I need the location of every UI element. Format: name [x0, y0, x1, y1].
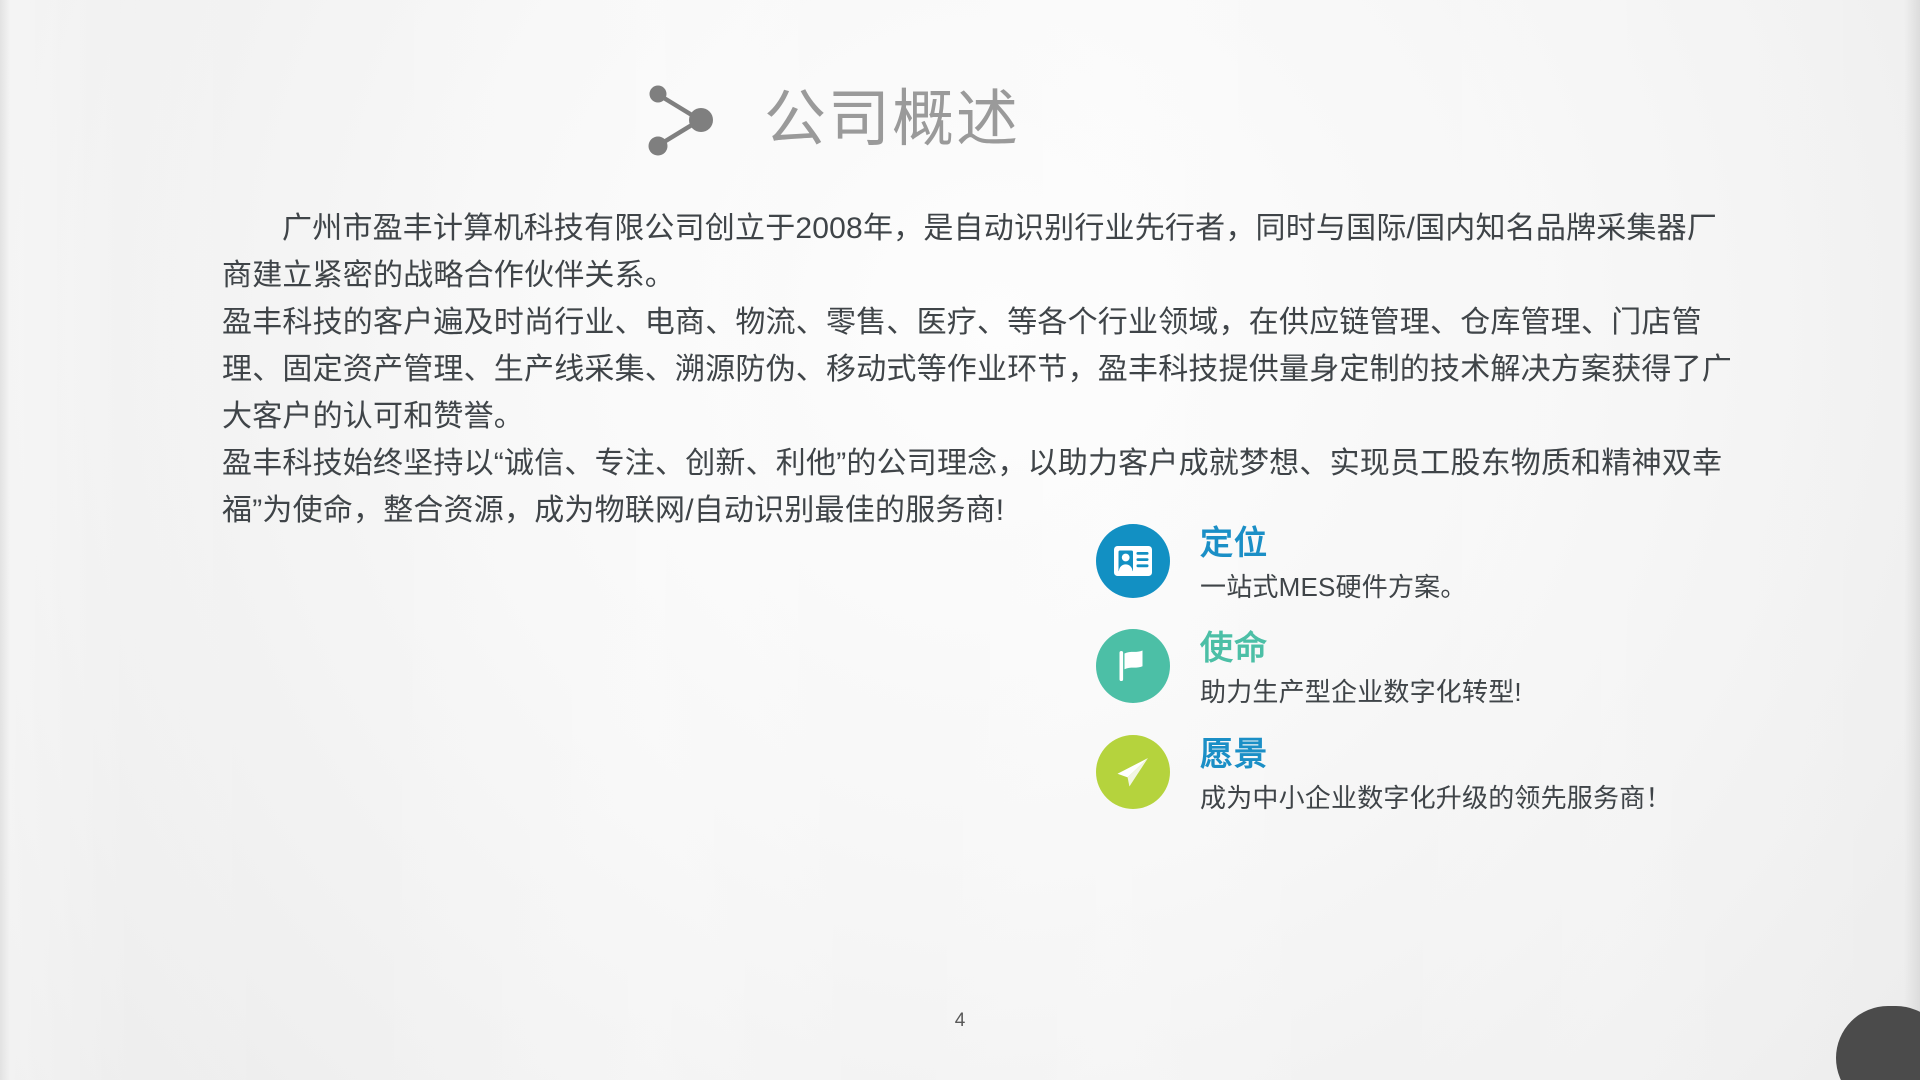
page-number: 4: [0, 1010, 1920, 1032]
slide-title-row: 公司概述: [640, 78, 1020, 162]
overview-paragraph-1: 广州市盈丰计算机科技有限公司创立于2008年，是自动识别行业先行者，同时与国际/…: [222, 205, 1742, 299]
share-nodes-icon: [640, 78, 724, 162]
pillar-heading: 使命: [1200, 629, 1522, 668]
slide-canvas: 公司概述 广州市盈丰计算机科技有限公司创立于2008年，是自动识别行业先行者，同…: [0, 0, 1920, 1080]
page-title: 公司概述: [764, 89, 1020, 151]
overview-paragraph-3: 盈丰科技始终坚持以“诚信、专注、创新、利他”的公司理念，以助力客户成就梦想、实现…: [222, 440, 1742, 534]
pillar-item-mission: 使命 助力生产型企业数字化转型!: [1096, 627, 1736, 708]
company-overview-text: 广州市盈丰计算机科技有限公司创立于2008年，是自动识别行业先行者，同时与国际/…: [222, 205, 1742, 534]
pillar-description: 助力生产型企业数字化转型!: [1200, 676, 1522, 709]
slide-left-edge-shade: [0, 0, 10, 1080]
pillar-description: 成为中小企业数字化升级的领先服务商！: [1200, 782, 1672, 815]
pillar-description: 一站式MES硬件方案。: [1200, 571, 1467, 604]
pillar-heading: 愿景: [1200, 735, 1672, 774]
flag-icon: [1096, 629, 1170, 703]
pillars-list: 定位 一站式MES硬件方案。 使命 助力生产型企业数字化转型!: [1096, 522, 1736, 814]
pillar-body: 愿景 成为中小企业数字化升级的领先服务商！: [1200, 733, 1672, 814]
pillar-heading: 定位: [1200, 524, 1467, 563]
slide-right-edge-shade: [1904, 0, 1920, 1080]
pillar-body: 使命 助力生产型企业数字化转型!: [1200, 627, 1522, 708]
pillar-body: 定位 一站式MES硬件方案。: [1200, 522, 1467, 603]
pillar-item-vision: 愿景 成为中小企业数字化升级的领先服务商！: [1096, 733, 1736, 814]
paper-plane-icon: [1096, 735, 1170, 809]
pillar-item-positioning: 定位 一站式MES硬件方案。: [1096, 522, 1736, 603]
id-card-icon: [1096, 524, 1170, 598]
overview-paragraph-2: 盈丰科技的客户遍及时尚行业、电商、物流、零售、医疗、等各个行业领域，在供应链管理…: [222, 299, 1742, 440]
